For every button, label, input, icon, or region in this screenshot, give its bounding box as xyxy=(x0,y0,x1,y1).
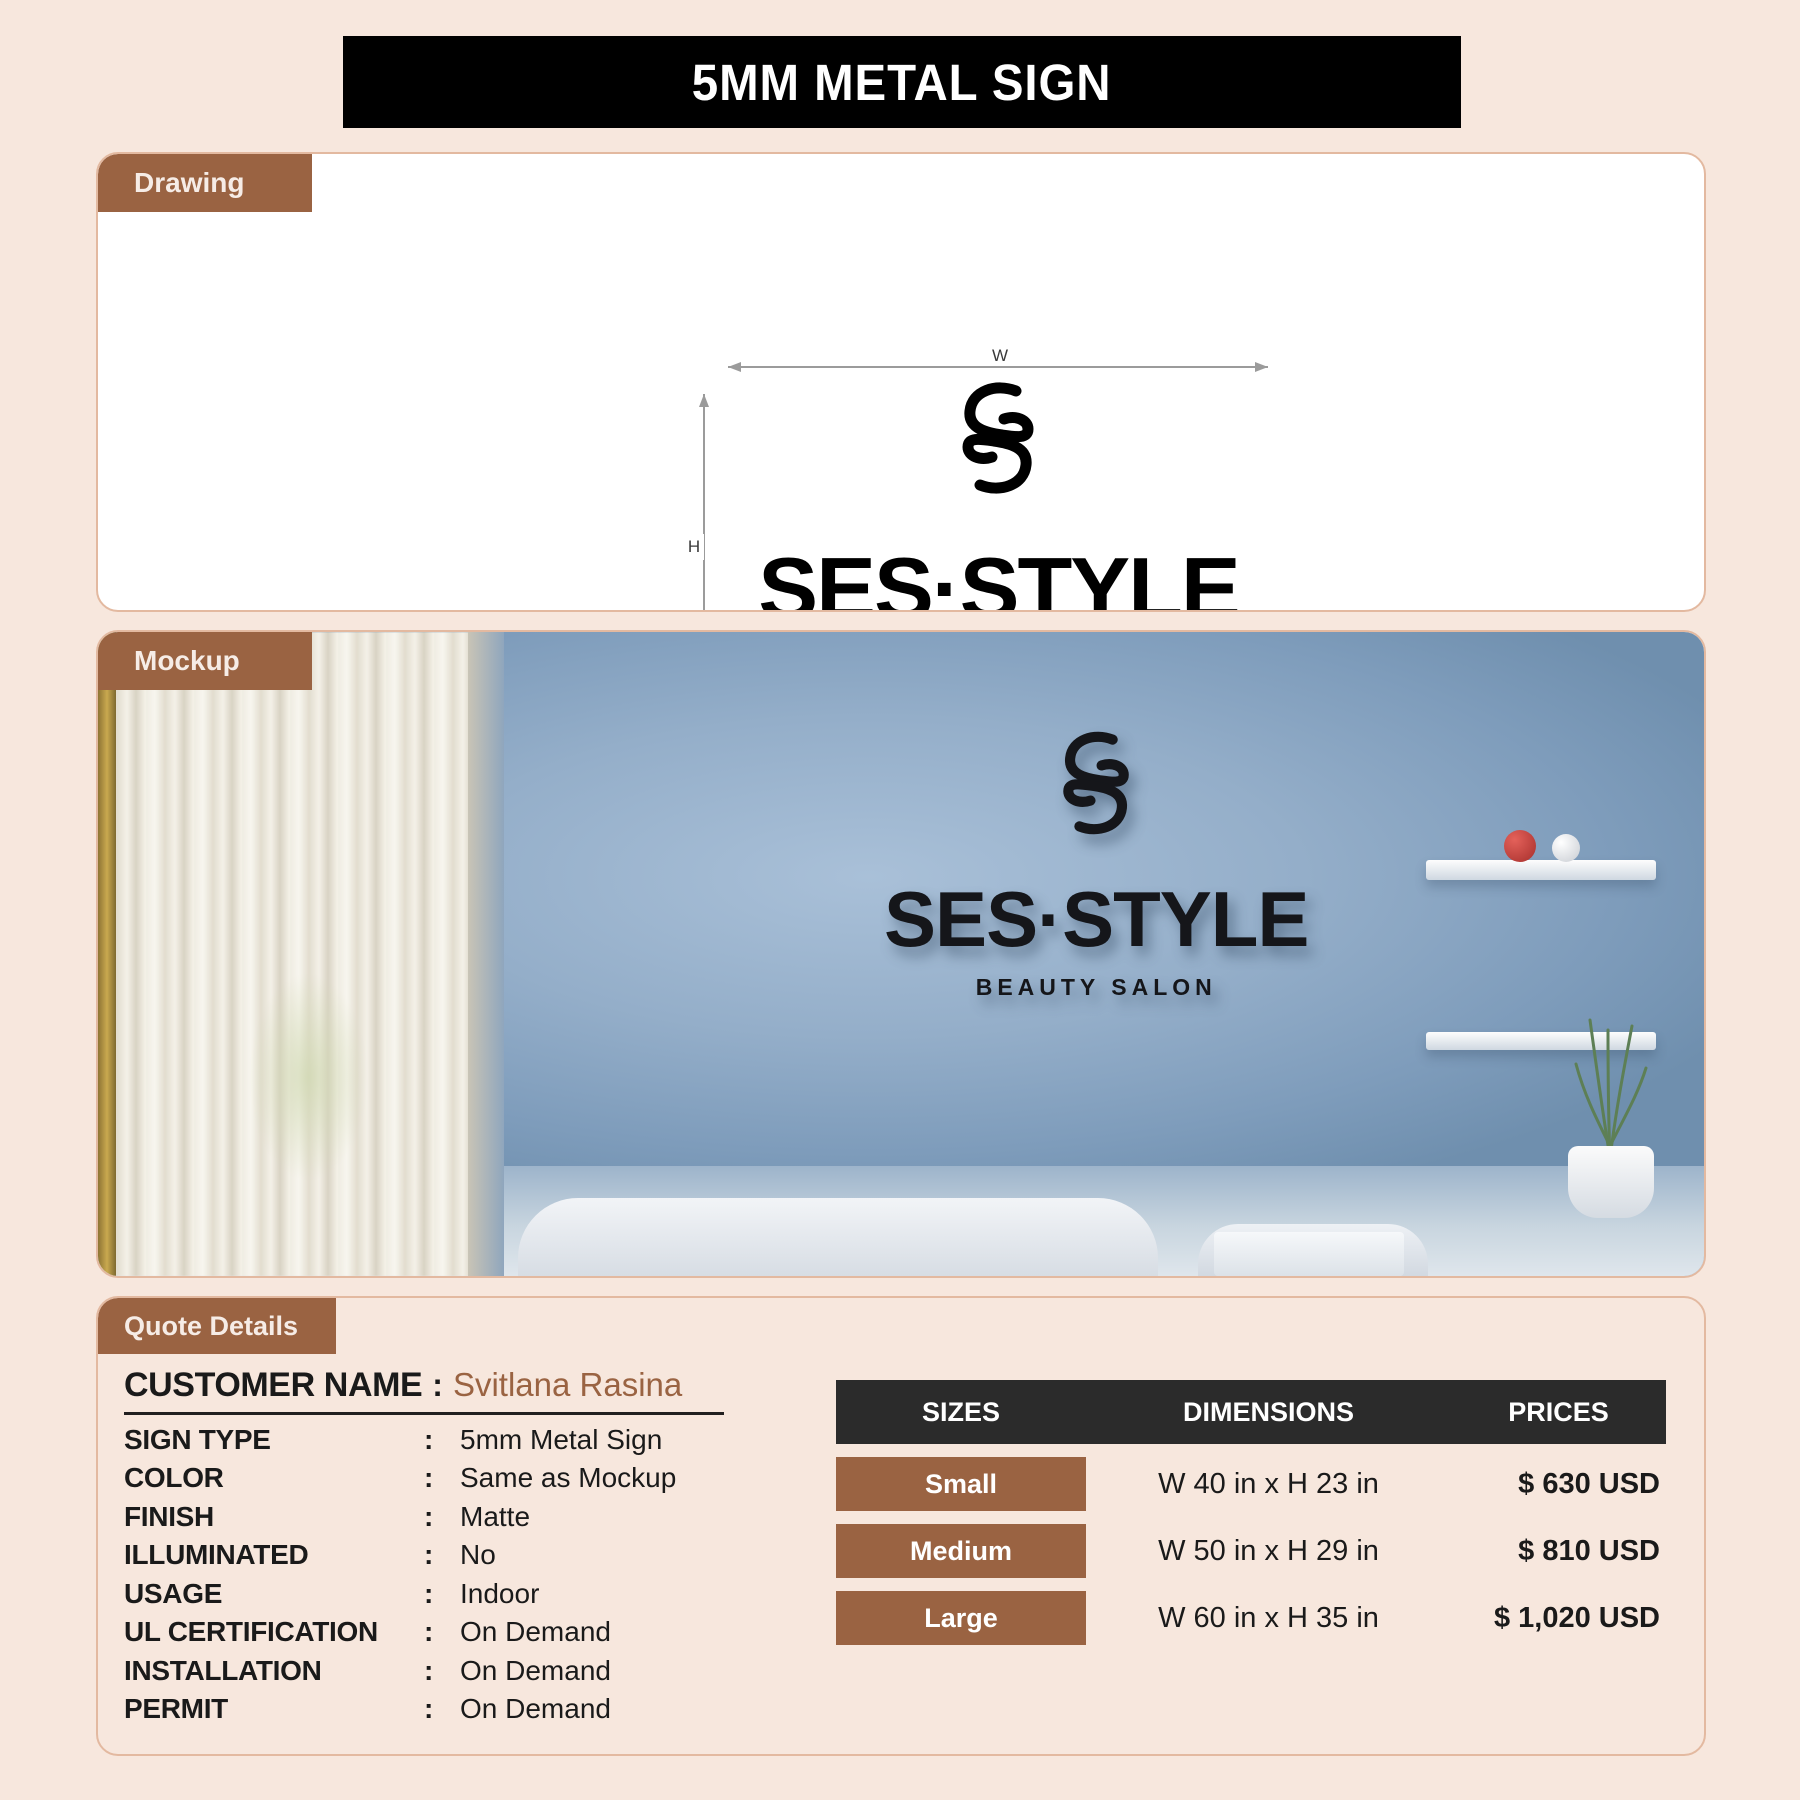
mockup-panel: Mockup xyxy=(96,630,1706,1278)
quote-sheet: 5MM METAL SIGN Drawing W H SES·STYLE BEA… xyxy=(0,0,1800,1800)
page-title-banner: 5MM METAL SIGN xyxy=(343,36,1461,128)
spec-colon: : xyxy=(424,1575,460,1613)
table-row: Medium W 50 in x H 29 in $ 810 USD xyxy=(836,1524,1666,1578)
page-title: 5MM METAL SIGN xyxy=(692,53,1112,112)
spec-value: No xyxy=(460,1536,676,1574)
spec-value: On Demand xyxy=(460,1652,676,1690)
width-dimension-label: W xyxy=(983,346,1017,366)
spec-value: Matte xyxy=(460,1498,676,1536)
drawing-stage: W H SES·STYLE BEAUTY SALON xyxy=(98,154,1704,610)
drawing-panel: Drawing W H SES·STYLE BEAUTY SALON xyxy=(96,152,1706,612)
size-badge-large: Large xyxy=(836,1591,1086,1645)
dimensions-value: W 40 in x H 23 in xyxy=(1086,1468,1451,1501)
spec-label: ILLUMINATED xyxy=(124,1536,424,1574)
column-header-dimensions: DIMENSIONS xyxy=(1086,1397,1451,1428)
drawing-logo-lockup: SES·STYLE BEAUTY SALON xyxy=(728,379,1268,612)
spec-label: UL CERTIFICATION xyxy=(124,1613,424,1651)
table-row: PERMIT : On Demand xyxy=(124,1690,676,1728)
spec-value: 5mm Metal Sign xyxy=(460,1421,676,1459)
quote-details-tab[interactable]: Quote Details xyxy=(98,1298,336,1354)
drawing-logo-wordmark: SES·STYLE xyxy=(758,545,1238,612)
table-row: USAGE : Indoor xyxy=(124,1575,676,1613)
spec-label: USAGE xyxy=(124,1575,424,1613)
price-value: $ 630 USD xyxy=(1451,1468,1666,1501)
spec-colon: : xyxy=(424,1690,460,1728)
dimensions-value: W 50 in x H 29 in xyxy=(1086,1535,1451,1568)
table-row: SIGN TYPE : 5mm Metal Sign xyxy=(124,1421,676,1459)
customer-divider xyxy=(124,1412,724,1415)
mockup-tab[interactable]: Mockup xyxy=(98,632,312,690)
mockup-tab-label: Mockup xyxy=(134,645,240,677)
quote-details-panel: Quote Details CUSTOMER NAME : Svitlana R… xyxy=(96,1296,1706,1756)
mockup-logo-wordmark: SES·STYLE xyxy=(884,880,1308,958)
spec-value: On Demand xyxy=(460,1690,676,1728)
spec-label: INSTALLATION xyxy=(124,1652,424,1690)
column-header-sizes: SIZES xyxy=(836,1397,1086,1428)
height-dimension-label: H xyxy=(684,534,704,560)
size-badge-small: Small xyxy=(836,1457,1086,1511)
table-row: FINISH : Matte xyxy=(124,1498,676,1536)
width-dimension-arrow xyxy=(728,366,1268,368)
quote-body: CUSTOMER NAME : Svitlana Rasina SIGN TYP… xyxy=(98,1354,1704,1754)
column-header-prices: PRICES xyxy=(1451,1397,1666,1428)
spec-colon: : xyxy=(424,1421,460,1459)
spec-value: On Demand xyxy=(460,1613,676,1651)
quote-details-tab-label: Quote Details xyxy=(124,1311,298,1342)
spec-colon: : xyxy=(424,1613,460,1651)
customer-name-value: Svitlana Rasina xyxy=(453,1366,682,1404)
wall-shelf-upper xyxy=(1426,860,1656,880)
size-badge-medium: Medium xyxy=(836,1524,1086,1578)
red-decor-ball xyxy=(1504,830,1536,862)
table-row: Large W 60 in x H 35 in $ 1,020 USD xyxy=(836,1591,1666,1645)
gold-frame-edge xyxy=(98,632,116,1276)
window-glow xyxy=(248,972,368,1182)
spec-label: PERMIT xyxy=(124,1690,424,1728)
table-row: INSTALLATION : On Demand xyxy=(124,1652,676,1690)
mockup-logo-tagline: BEAUTY SALON xyxy=(976,974,1217,1001)
customer-name-row: CUSTOMER NAME : Svitlana Rasina xyxy=(124,1366,818,1405)
spec-table: SIGN TYPE : 5mm Metal Sign COLOR : Same … xyxy=(124,1421,676,1729)
price-value: $ 1,020 USD xyxy=(1451,1602,1666,1635)
white-decor-ball xyxy=(1552,834,1580,862)
plant-pot xyxy=(1568,1146,1654,1218)
price-value: $ 810 USD xyxy=(1451,1535,1666,1568)
height-dimension-arrow xyxy=(703,394,705,612)
spec-colon: : xyxy=(424,1652,460,1690)
spec-value: Same as Mockup xyxy=(460,1459,676,1497)
mockup-stage: SES·STYLE BEAUTY SALON xyxy=(98,632,1704,1276)
plant-icon xyxy=(1562,968,1658,1158)
table-row: COLOR : Same as Mockup xyxy=(124,1459,676,1497)
spec-colon: : xyxy=(424,1536,460,1574)
spec-colon: : xyxy=(424,1498,460,1536)
pricing-table-column: SIZES DIMENSIONS PRICES Small W 40 in x … xyxy=(818,1354,1704,1754)
pricing-table-header: SIZES DIMENSIONS PRICES xyxy=(836,1380,1666,1444)
ses-monogram-icon xyxy=(946,379,1050,497)
table-row: ILLUMINATED : No xyxy=(124,1536,676,1574)
customer-name-colon: : xyxy=(432,1367,443,1404)
drawing-tab-label: Drawing xyxy=(134,167,244,199)
mockup-wall-sign: SES·STYLE BEAUTY SALON xyxy=(884,728,1308,1001)
curtain-edge xyxy=(468,632,504,1276)
ses-monogram-icon xyxy=(1048,728,1144,838)
table-row: Small W 40 in x H 23 in $ 630 USD xyxy=(836,1457,1666,1511)
spec-value: Indoor xyxy=(460,1575,676,1613)
spec-label: COLOR xyxy=(124,1459,424,1497)
cabinet xyxy=(1214,1232,1404,1276)
customer-name-label: CUSTOMER NAME xyxy=(124,1366,422,1405)
dimensions-value: W 60 in x H 35 in xyxy=(1086,1602,1451,1635)
table-row: UL CERTIFICATION : On Demand xyxy=(124,1613,676,1651)
sofa xyxy=(518,1198,1158,1276)
spec-label: SIGN TYPE xyxy=(124,1421,424,1459)
spec-list-column: CUSTOMER NAME : Svitlana Rasina SIGN TYP… xyxy=(98,1354,818,1754)
spec-label: FINISH xyxy=(124,1498,424,1536)
drawing-tab[interactable]: Drawing xyxy=(98,154,312,212)
spec-colon: : xyxy=(424,1459,460,1497)
